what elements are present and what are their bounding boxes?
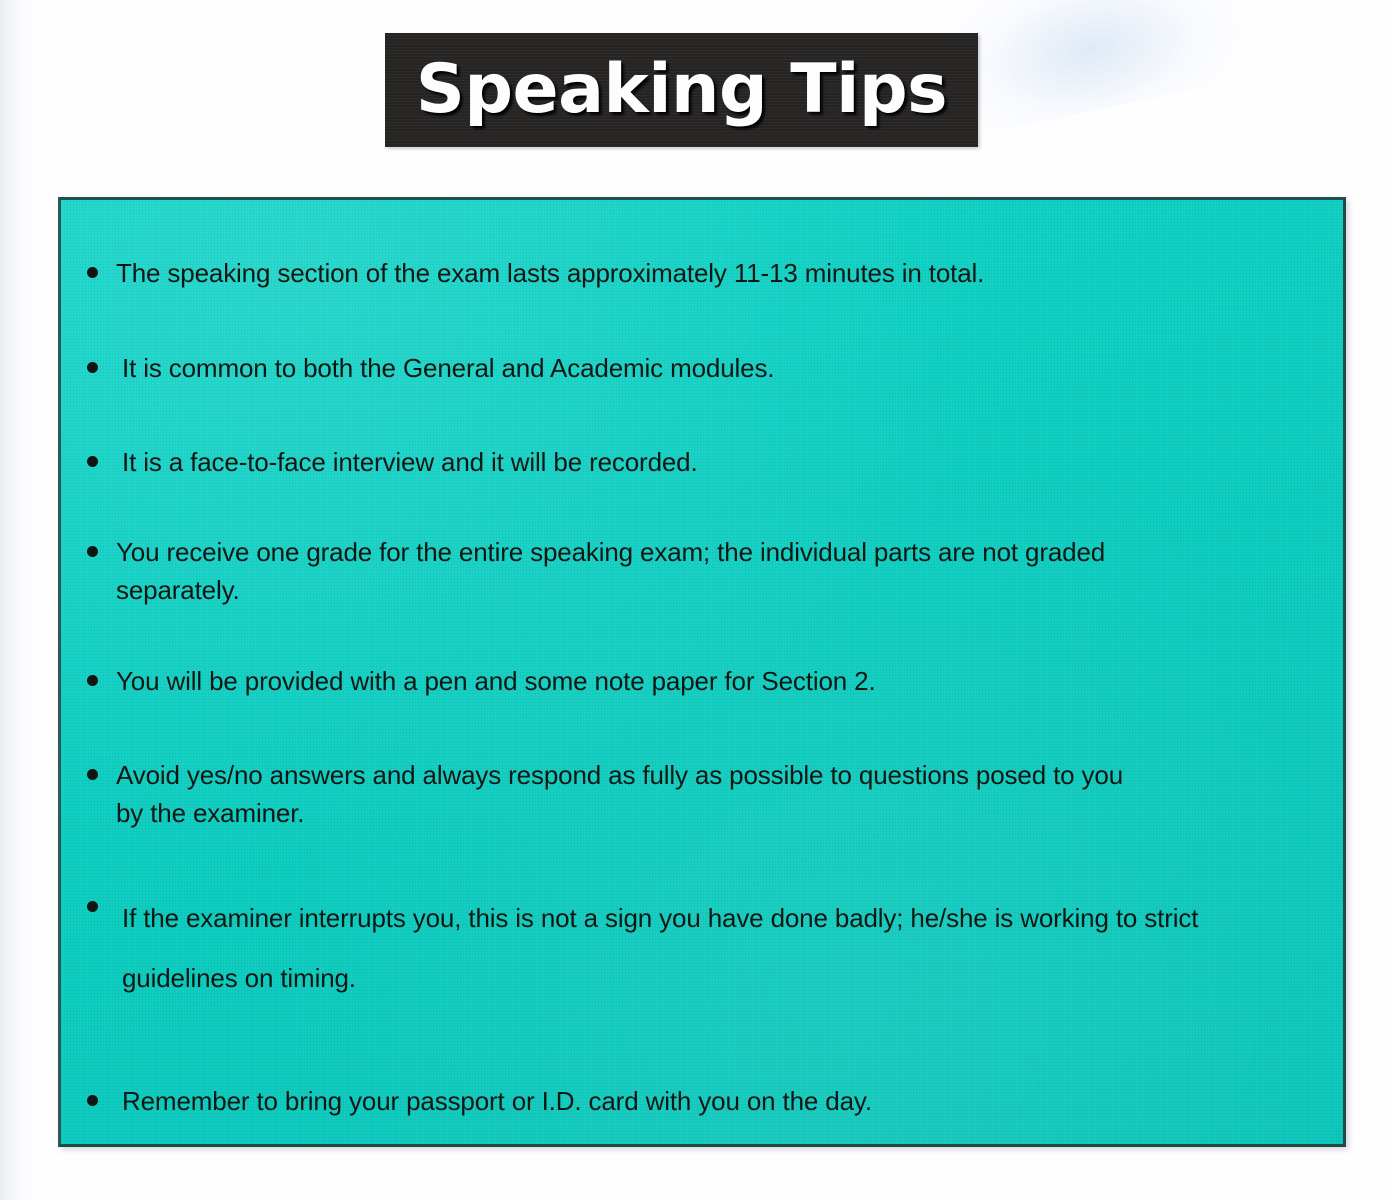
- tip-item: Avoid yes/no answers and always respond …: [87, 756, 1325, 832]
- bullet-icon: [87, 362, 98, 373]
- scanned-page: Speaking Tips The speaking section of th…: [0, 0, 1388, 1200]
- tip-text: You receive one grade for the entire spe…: [116, 533, 1325, 609]
- tip-item: If the examiner interrupts you, this is …: [87, 888, 1325, 1008]
- tips-card: The speaking section of the exam lasts a…: [58, 197, 1346, 1147]
- title-banner: Speaking Tips: [385, 33, 978, 147]
- tip-item: It is common to both the General and Aca…: [87, 349, 1325, 387]
- tips-list: The speaking section of the exam lasts a…: [61, 200, 1343, 1144]
- bullet-icon: [87, 456, 98, 467]
- tip-text: It is a face-to-face interview and it wi…: [116, 443, 1325, 481]
- tip-item: Remember to bring your passport or I.D. …: [87, 1082, 1325, 1120]
- tip-item: The speaking section of the exam lasts a…: [87, 254, 1325, 292]
- tip-item: You receive one grade for the entire spe…: [87, 533, 1325, 609]
- tip-text: You will be provided with a pen and some…: [116, 662, 1325, 700]
- tip-text: Remember to bring your passport or I.D. …: [116, 1082, 1325, 1120]
- bullet-icon: [87, 267, 98, 278]
- bullet-icon: [87, 769, 98, 780]
- tip-text: If the examiner interrupts you, this is …: [116, 888, 1325, 1008]
- tip-text: Avoid yes/no answers and always respond …: [116, 756, 1325, 832]
- bullet-icon: [87, 901, 98, 912]
- tip-item: It is a face-to-face interview and it wi…: [87, 443, 1325, 481]
- tip-text: The speaking section of the exam lasts a…: [116, 254, 1325, 292]
- tip-item: You will be provided with a pen and some…: [87, 662, 1325, 700]
- bullet-icon: [87, 546, 98, 557]
- bullet-icon: [87, 1095, 98, 1106]
- page-title: Speaking Tips: [416, 56, 947, 124]
- bullet-icon: [87, 675, 98, 686]
- tip-text: It is common to both the General and Aca…: [116, 349, 1325, 387]
